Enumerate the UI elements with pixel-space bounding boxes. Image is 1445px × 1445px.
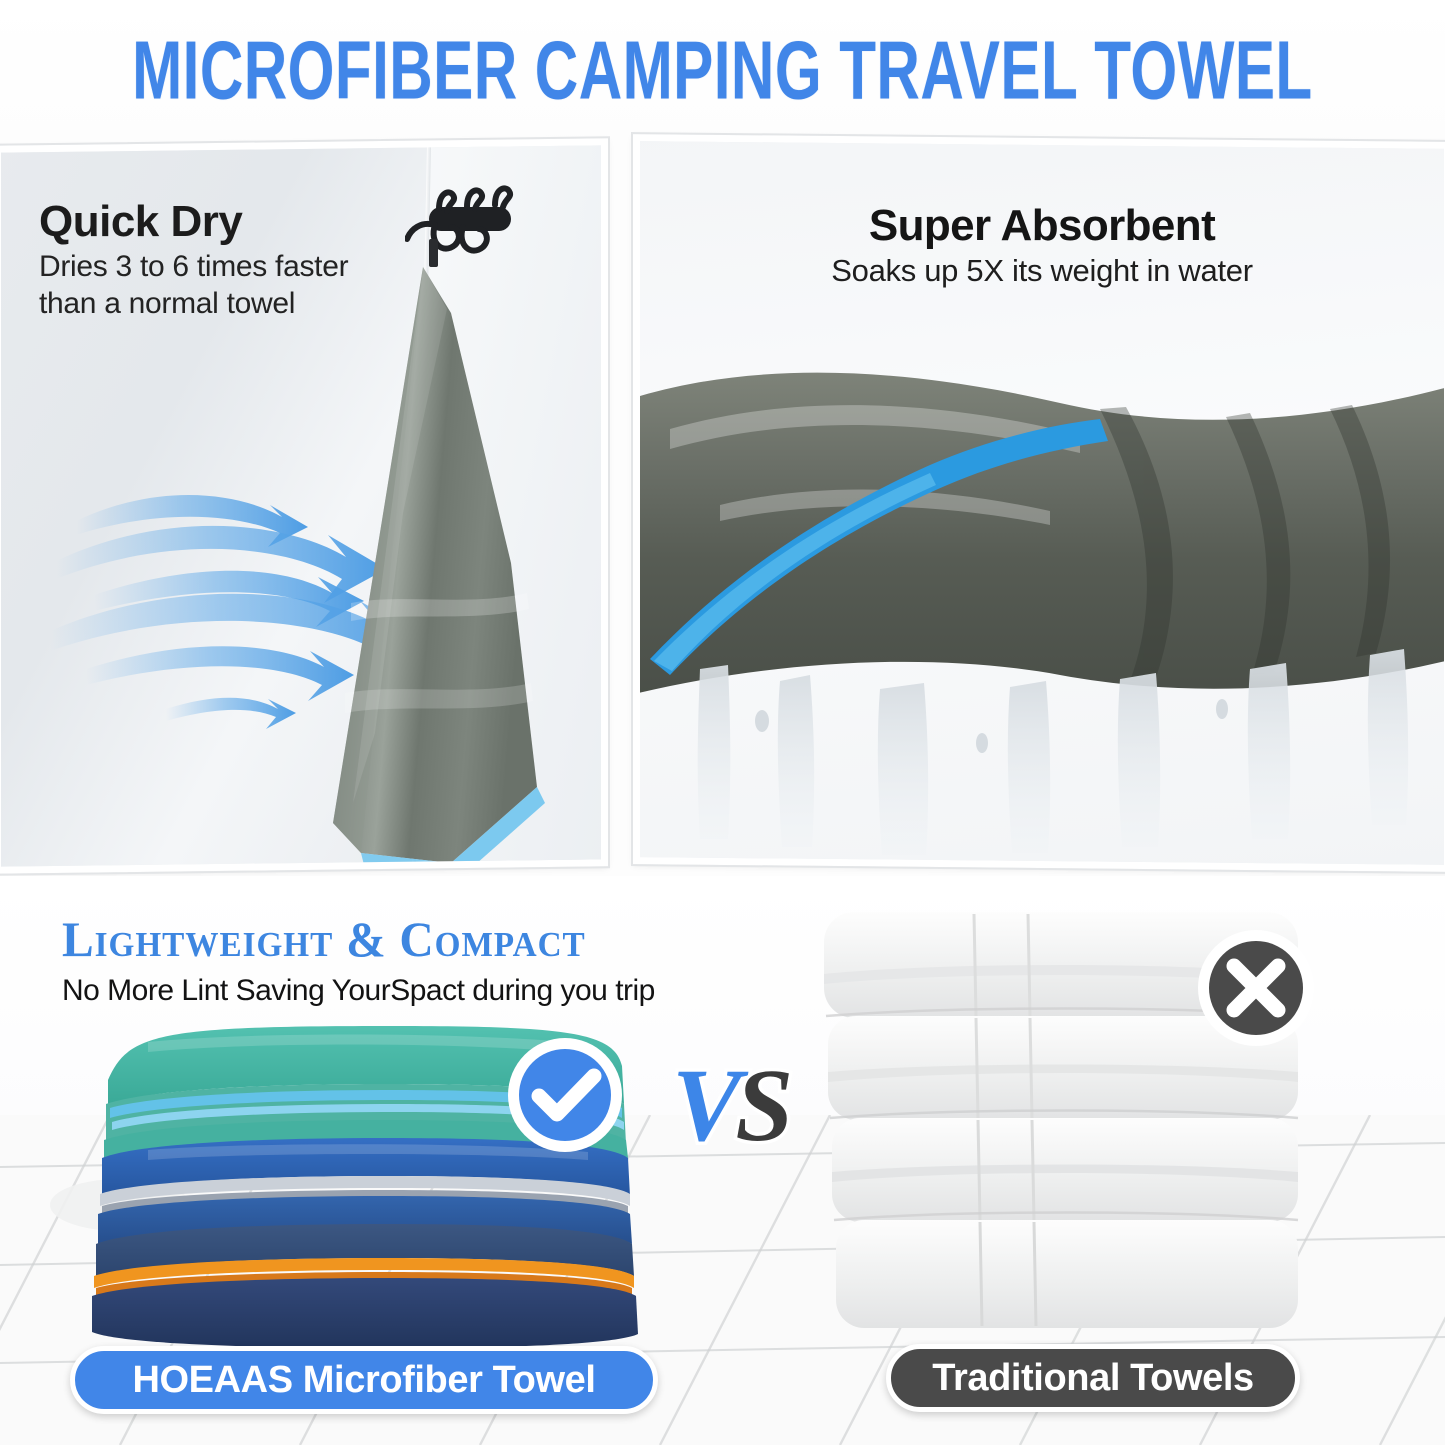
vs-letter-s: S: [735, 1048, 787, 1163]
comparison-heading: Lightweight & Compact: [62, 910, 625, 968]
hanging-towel: [331, 263, 581, 874]
super-absorbent-text-block: Super Absorbent Soaks up 5X its weight i…: [640, 201, 1444, 289]
traditional-towel-label: Traditional Towels: [886, 1344, 1300, 1412]
comparison-text-block: Lightweight & Compact No More Lint Savin…: [62, 910, 655, 1008]
super-absorbent-subheading: Soaks up 5X its weight in water: [640, 253, 1444, 289]
feature-panel-row: Quick Dry Dries 3 to 6 times faster than…: [0, 138, 1445, 876]
white-towel-3: [832, 1118, 1298, 1222]
check-badge-icon: [506, 1036, 624, 1154]
wall-hook-rack-icon: [405, 181, 545, 277]
vs-letter-v: V: [672, 1048, 735, 1163]
header-banner: MICROFIBER CAMPING TRAVEL TOWEL: [0, 0, 1445, 140]
x-badge-icon: [1196, 928, 1316, 1048]
vs-badge: VS: [672, 1054, 802, 1194]
super-absorbent-heading: Super Absorbent: [640, 201, 1444, 251]
comparison-subheading: No More Lint Saving YourSpact during you…: [62, 974, 655, 1008]
white-towel-4: [836, 1220, 1298, 1328]
panel-super-absorbent: Super Absorbent Soaks up 5X its weight i…: [633, 134, 1445, 872]
quick-dry-subheading-line1: Dries 3 to 6 times faster: [39, 249, 348, 286]
comparison-section: Lightweight & Compact No More Lint Savin…: [0, 876, 1445, 1445]
panel-quick-dry: Quick Dry Dries 3 to 6 times faster than…: [0, 138, 608, 874]
twisted-wet-towel: [633, 369, 1445, 869]
quick-dry-text-block: Quick Dry Dries 3 to 6 times faster than…: [39, 197, 348, 322]
quick-dry-heading: Quick Dry: [39, 197, 348, 247]
microfiber-towel-label: HOEAAS Microfiber Towel: [70, 1346, 658, 1414]
infographic-page: MICROFIBER CAMPING TRAVEL TOWEL: [0, 0, 1445, 1445]
towel-dark-navy: [92, 1278, 638, 1348]
page-title: MICROFIBER CAMPING TRAVEL TOWEL: [132, 23, 1313, 117]
quick-dry-subheading-line2: than a normal towel: [39, 286, 348, 323]
